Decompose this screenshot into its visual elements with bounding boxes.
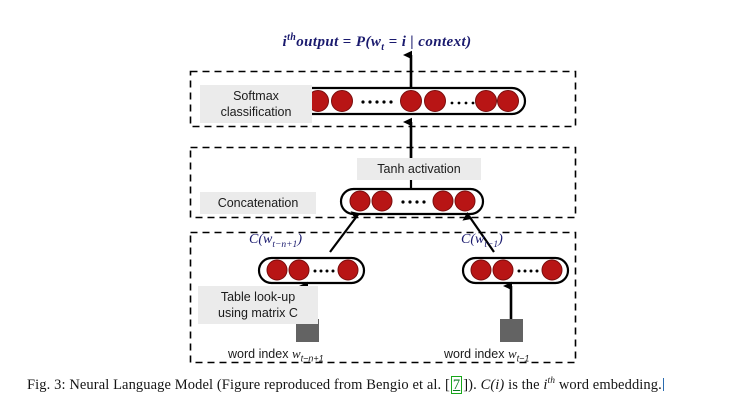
embedding-label-right-c: C(w: [461, 232, 484, 247]
formula-output-word: output: [296, 34, 338, 50]
word-index-left-text: word index: [228, 347, 292, 361]
diagram-canvas: [0, 0, 754, 412]
caption-ith-sup: th: [548, 376, 556, 386]
figure-caption: Fig. 3: Neural Language Model (Figure re…: [27, 376, 733, 394]
caption-fig-label: Fig. 3:: [27, 377, 66, 393]
formula-i-sup: th: [287, 32, 296, 43]
formula-prob: P(w: [356, 34, 381, 50]
arrow-left-embedding-to-concat: [330, 216, 357, 252]
citation-link-7[interactable]: 7: [451, 376, 462, 394]
word-index-right-sub: t−1: [517, 354, 530, 364]
formula-equals: =: [339, 34, 356, 50]
word-index-label-right: word index wt−1: [444, 346, 529, 364]
caption-c-i: C(i): [481, 377, 505, 393]
text-cursor: [663, 378, 664, 391]
embedding-label-left: C(wt−n+1): [249, 232, 302, 250]
embedding-label-right-close: ): [498, 232, 503, 247]
softmax-neurons: [308, 91, 519, 112]
embedding-label-left-sub: t−n+1: [272, 240, 297, 250]
caption-tail: word embedding.: [555, 377, 662, 393]
table-lookup-label: Table look-up using matrix C: [198, 286, 318, 324]
caption-paren-open: (Figure reproduced from Bengio et al. [: [217, 377, 450, 393]
softmax-classification-label: Softmax classification: [200, 85, 312, 123]
caption-is-the: is the: [504, 377, 543, 393]
embedding-label-right-sub: t−1: [484, 240, 498, 250]
word-index-label-left: word index wt−n+1: [228, 346, 324, 364]
embedding-label-left-close: ): [297, 232, 302, 247]
concatenation-label: Concatenation: [200, 192, 316, 214]
formula-prob-tail: = i | context): [384, 34, 471, 50]
neural-language-model-figure: ithoutput = P(wt = i | context) Softmax …: [0, 0, 754, 412]
word-index-square-right: [500, 319, 523, 342]
word-index-right-sym: w: [508, 346, 517, 361]
word-index-right-text: word index: [444, 347, 508, 361]
word-index-left-sub: t−n+1: [301, 354, 324, 364]
embedding-label-right: C(wt−1): [461, 232, 503, 250]
output-formula: ithoutput = P(wt = i | context): [0, 32, 754, 53]
word-index-left-sym: w: [292, 346, 301, 361]
caption-paren-close: ]).: [463, 377, 477, 393]
embedding-label-left-c: C(w: [249, 232, 272, 247]
caption-title: Neural Language Model: [69, 377, 213, 393]
tanh-activation-label: Tanh activation: [357, 158, 481, 180]
